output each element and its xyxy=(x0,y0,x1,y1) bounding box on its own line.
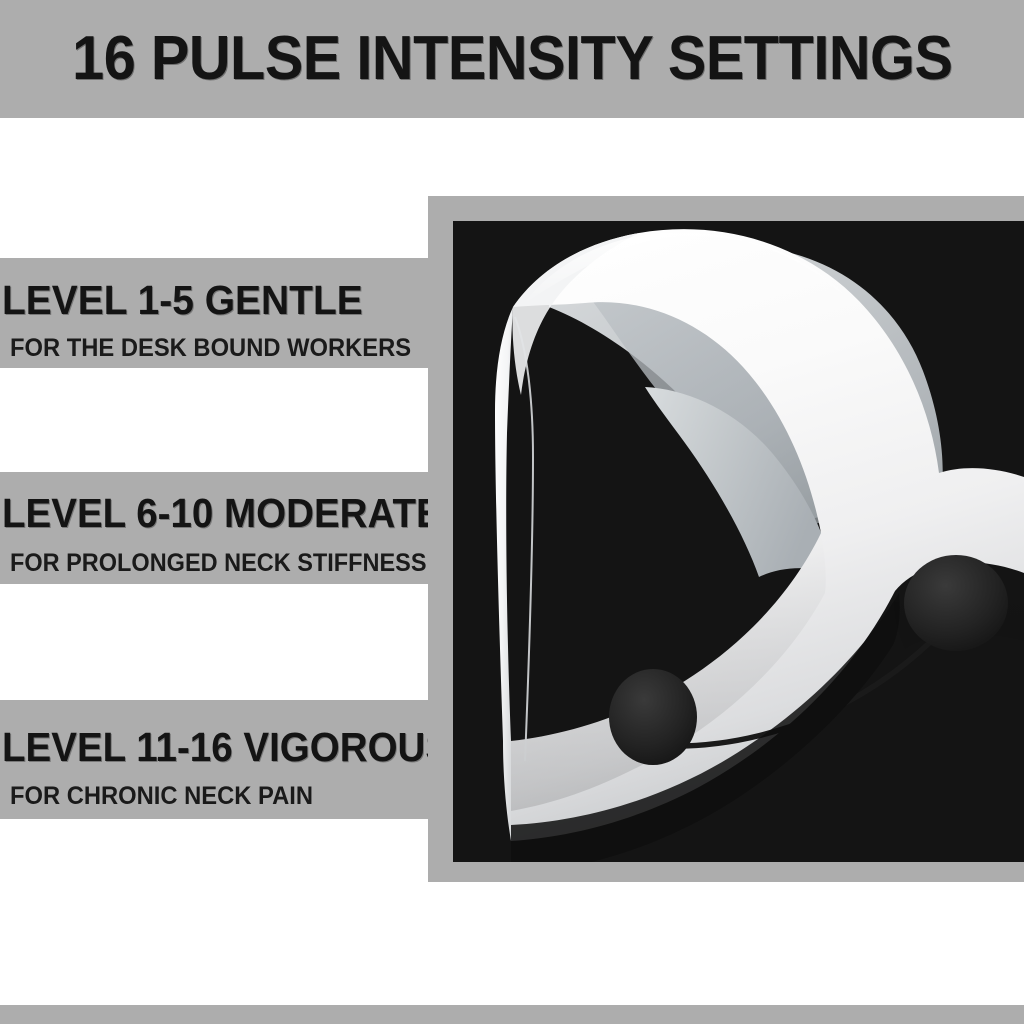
header-band: 16 PULSE INTENSITY SETTINGS xyxy=(0,0,1024,118)
level-title-2: LEVEL 6-10 MODERATE xyxy=(2,493,442,534)
level-block-moderate: LEVEL 6-10 MODERATE FOR PROLONGED NECK S… xyxy=(0,472,428,584)
level-title-3: LEVEL 11-16 VIGOROUS xyxy=(2,727,451,768)
level-block-gentle: LEVEL 1-5 GENTLE FOR THE DESK BOUND WORK… xyxy=(0,258,428,368)
level-subtitle-1: FOR THE DESK BOUND WORKERS xyxy=(10,336,411,361)
product-panel-frame xyxy=(428,196,1024,882)
level-block-vigorous: LEVEL 11-16 VIGOROUS FOR CHRONIC NECK PA… xyxy=(0,700,428,819)
level-subtitle-2: FOR PROLONGED NECK STIFFNESS xyxy=(10,551,427,576)
neck-massager-illustration xyxy=(453,221,1024,862)
product-image-stage xyxy=(453,221,1024,862)
level-title-1: LEVEL 1-5 GENTLE xyxy=(2,280,363,321)
level-subtitle-3: FOR CHRONIC NECK PAIN xyxy=(10,784,313,809)
bottom-strip xyxy=(0,1005,1024,1024)
electrode-button-left[interactable] xyxy=(609,669,697,765)
product-infographic: 16 PULSE INTENSITY SETTINGS LEVEL 1-5 GE… xyxy=(0,0,1024,1024)
page-title: 16 PULSE INTENSITY SETTINGS xyxy=(72,28,952,90)
electrode-button-right[interactable] xyxy=(904,555,1008,651)
